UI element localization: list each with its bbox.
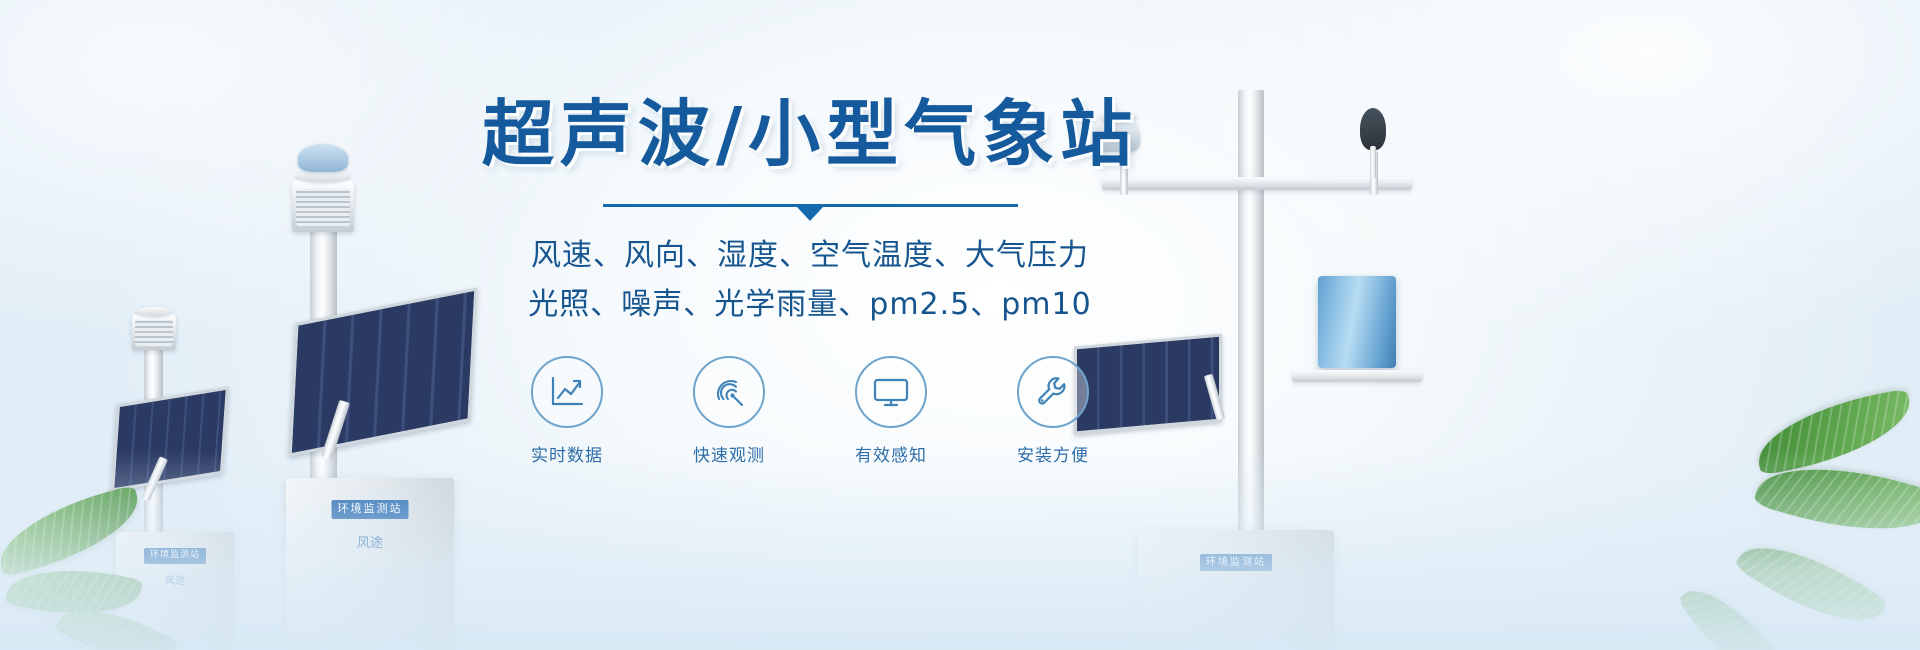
- leaf-bottom-right-3: [1734, 522, 1889, 646]
- enclosure-nameplate: 环境监测站: [332, 500, 409, 519]
- radar-signal-icon: [711, 374, 747, 410]
- title-divider: [603, 200, 1018, 214]
- monitor-screen-icon: [872, 376, 910, 408]
- feature-label: 快速观测: [672, 441, 786, 466]
- enclosure-nameplate: 环境监测站: [1200, 554, 1272, 571]
- feature-icon-circle: [693, 356, 765, 428]
- feature-label: 安装方便: [996, 441, 1110, 466]
- chevron-down-icon: [797, 207, 823, 221]
- wind-vane-sensor: [1360, 108, 1386, 150]
- enclosure-nameplate: 环境监测站: [144, 548, 206, 564]
- feature-icon-circle: [1017, 356, 1089, 428]
- product-banner: 环境监测站 风途 环境监测站 风途 环境监测站: [0, 0, 1920, 650]
- feature-label: 有效感知: [834, 441, 948, 466]
- sensor-head: [292, 180, 354, 232]
- page-title: 超声波/小型气象站: [430, 96, 1190, 172]
- subtitle-line-2: 光照、噪声、光学雨量、pm2.5、pm10: [430, 281, 1190, 330]
- control-enclosure: 环境监测站 风途: [286, 478, 454, 650]
- rain-gauge-shelf: [1292, 370, 1422, 382]
- subtitle-line-1: 风速、风向、湿度、空气温度、大气压力: [430, 232, 1190, 281]
- wrench-icon: [1035, 374, 1071, 410]
- feature-effective-sensing[interactable]: 有效感知: [834, 356, 948, 466]
- feature-list: 实时数据 快速观测: [430, 356, 1190, 466]
- feature-realtime-data[interactable]: 实时数据: [510, 356, 624, 466]
- sensor-cap: [136, 307, 172, 316]
- feature-icon-circle: [855, 356, 927, 428]
- feature-icon-circle: [531, 356, 603, 428]
- enclosure-brandmark: 风途: [165, 572, 185, 587]
- enclosure-brandmark: 风途: [357, 532, 383, 551]
- feature-easy-install[interactable]: 安装方便: [996, 356, 1110, 466]
- banner-content: 超声波/小型气象站 风速、风向、湿度、空气温度、大气压力 光照、噪声、光学雨量、…: [430, 96, 1190, 466]
- sensor-head: [132, 314, 176, 350]
- vane-stem: [1370, 146, 1376, 178]
- feature-fast-observation[interactable]: 快速观测: [672, 356, 786, 466]
- solar-panel: [111, 386, 229, 491]
- line-chart-icon: [549, 375, 585, 409]
- feature-label: 实时数据: [510, 441, 624, 466]
- subtitle-block: 风速、风向、湿度、空气温度、大气压力 光照、噪声、光学雨量、pm2.5、pm10: [430, 232, 1190, 329]
- radiation-shield-top: [298, 144, 348, 172]
- control-enclosure: 环境监测站: [1138, 530, 1334, 650]
- leaf-bottom-right-1: [1750, 388, 1918, 476]
- optical-rain-gauge: [1318, 276, 1396, 368]
